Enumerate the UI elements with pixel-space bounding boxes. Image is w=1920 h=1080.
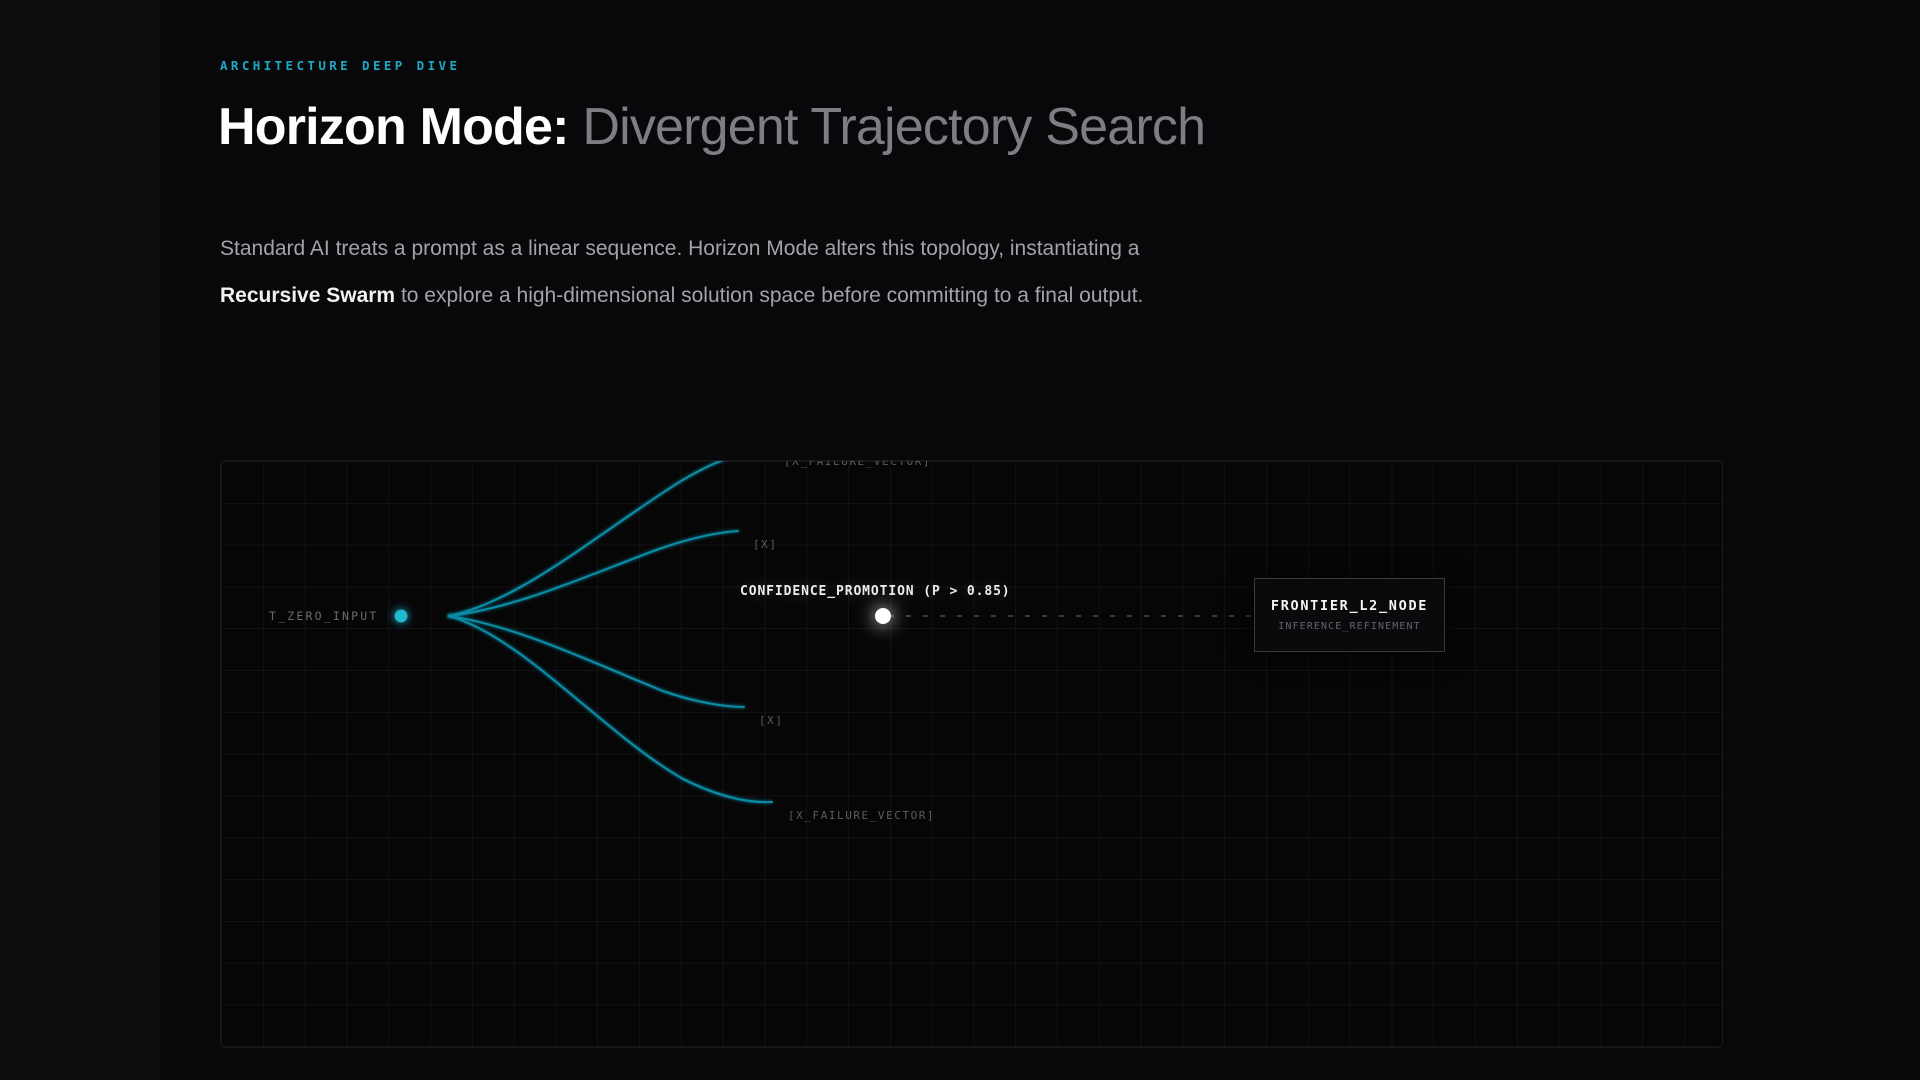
- page-title-soft: Divergent Trajectory Search: [582, 98, 1205, 156]
- branch-label-failure-top: [X_FAILURE_VECTOR]: [784, 460, 931, 468]
- branch-label-pruned-lower: [X]: [759, 714, 784, 727]
- main-content: ARCHITECTURE DEEP DIVE Horizon Mode: Div…: [160, 0, 1920, 1080]
- promotion-node-dot[interactable]: [875, 608, 891, 624]
- promotion-label: CONFIDENCE_PROMOTION (P > 0.85): [740, 584, 1011, 599]
- trajectory-svg: [221, 461, 1722, 1047]
- branch-label-pruned-upper: [X]: [753, 538, 778, 551]
- page-title: Horizon Mode: Divergent Trajectory Searc…: [218, 96, 1205, 158]
- intro-paragraph: Standard AI treats a prompt as a linear …: [220, 225, 1220, 319]
- left-gutter: [0, 0, 160, 1080]
- intro-text-1: Standard AI treats a prompt as a linear …: [220, 237, 1139, 260]
- branch-label-failure-bottom: [X_FAILURE_VECTOR]: [788, 809, 935, 822]
- branch-path-pruned-lower: [449, 616, 744, 707]
- branch-path-failure-top: [449, 461, 768, 616]
- trajectory-diagram-panel: T_ZERO_INPUT [X_FAILURE_VECTOR] [X] CONF…: [220, 460, 1723, 1048]
- frontier-node-subtitle: INFERENCE_REFINEMENT: [1278, 621, 1420, 632]
- intro-text-2: to explore a high-dimensional solution s…: [395, 284, 1143, 307]
- page-title-strong: Horizon Mode:: [218, 98, 569, 156]
- branch-path-pruned-upper: [449, 531, 738, 616]
- frontier-node-title: FRONTIER_L2_NODE: [1271, 598, 1428, 614]
- frontier-node-box[interactable]: FRONTIER_L2_NODE INFERENCE_REFINEMENT: [1254, 578, 1445, 652]
- eyebrow-label: ARCHITECTURE DEEP DIVE: [220, 58, 460, 73]
- intro-accent-term: Recursive Swarm: [220, 284, 395, 307]
- branch-path-failure-bottom: [449, 616, 772, 802]
- page-root: ARCHITECTURE DEEP DIVE Horizon Mode: Div…: [0, 0, 1920, 1080]
- origin-node-dot[interactable]: [395, 610, 408, 623]
- origin-node-label: T_ZERO_INPUT: [269, 609, 378, 623]
